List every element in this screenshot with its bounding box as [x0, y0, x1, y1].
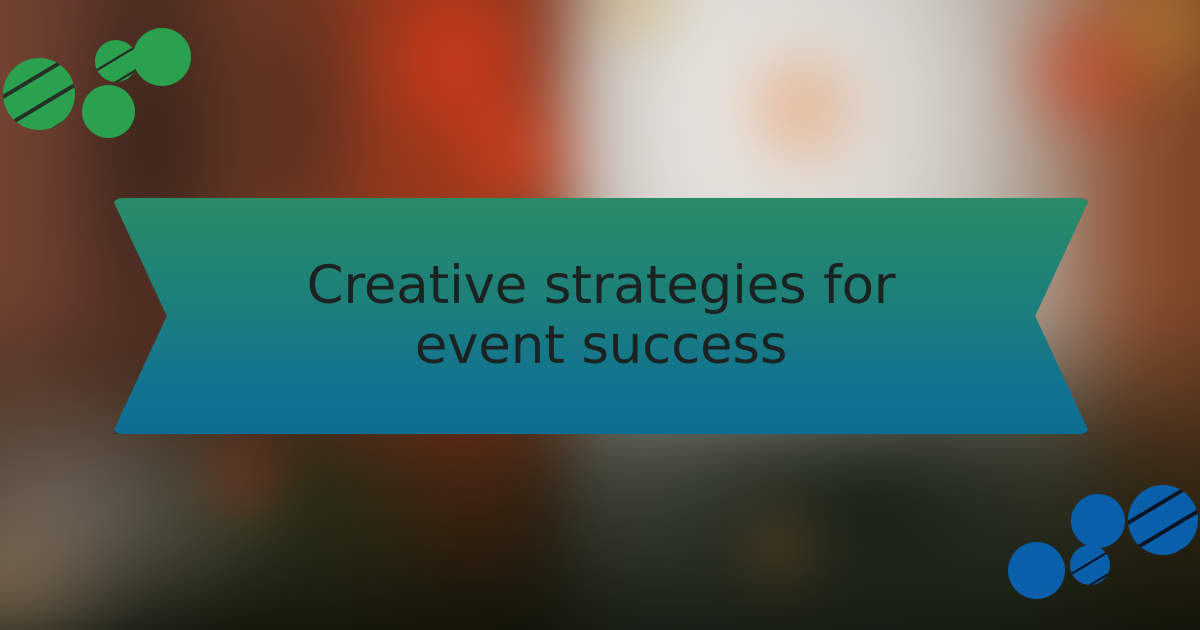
- banner-title: Creative strategies for event success: [197, 256, 1006, 376]
- green-circle-striped-large: [3, 58, 75, 130]
- blue-circle-striped-large: [1128, 485, 1198, 555]
- blue-circle-striped-large-stripes: [1128, 485, 1198, 555]
- green-circle-striped-small: [95, 40, 137, 82]
- green-circle-plain-large: [133, 28, 191, 86]
- ribbon-banner: Creative strategies for event success: [112, 198, 1090, 434]
- green-circle-striped-large-stripes: [3, 58, 75, 130]
- bokeh-red-3: [1003, 0, 1162, 161]
- green-circle-striped-small-stripes: [95, 40, 137, 82]
- green-circle-plain-small: [82, 85, 135, 138]
- blue-circle-plain-large: [1071, 494, 1125, 548]
- bokeh-orange: [738, 34, 865, 182]
- bokeh-ember: [738, 490, 823, 607]
- social-card-canvas: Creative strategies for event success: [0, 0, 1200, 630]
- blue-circle-plain-small: [1008, 542, 1065, 599]
- blue-circle-striped-small: [1070, 545, 1110, 585]
- blue-circle-striped-small-stripes: [1070, 545, 1110, 585]
